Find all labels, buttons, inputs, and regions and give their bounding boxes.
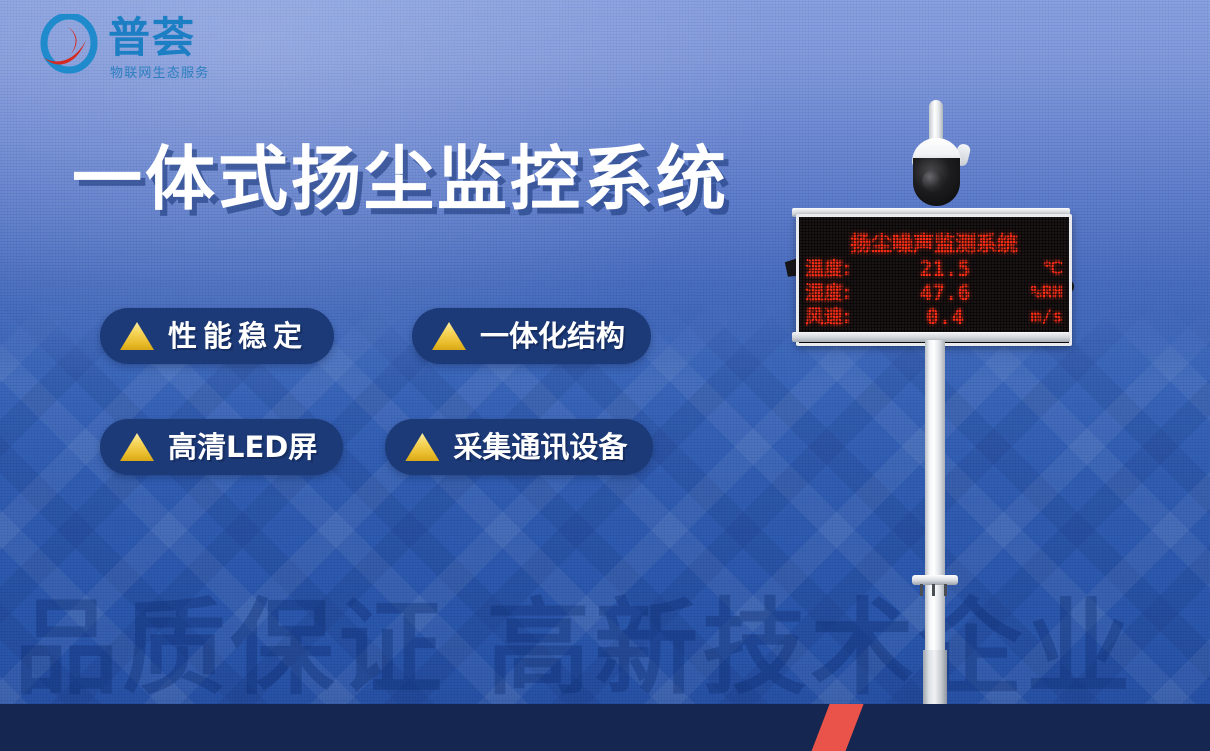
triangle-up-icon — [405, 433, 439, 461]
led-row-unit: ℃ — [1001, 257, 1063, 281]
triangle-up-icon — [120, 322, 154, 350]
brand-logo[interactable]: 普荟 物联网生态服务 — [38, 14, 209, 81]
led-row-value: 47.6 — [889, 281, 1001, 305]
feature-badge-row-1: 性能稳定 一体化结构 — [100, 308, 760, 364]
led-row-label: 湿度 — [805, 282, 843, 304]
feature-badge-row-2: 高清LED屏 采集通讯设备 — [100, 419, 760, 475]
led-row-value: 0.4 — [889, 305, 1001, 329]
triangle-up-icon — [120, 433, 154, 461]
feature-badge-hd-led-screen[interactable]: 高清LED屏 — [100, 419, 343, 475]
brand-text-block: 普荟 物联网生态服务 — [108, 14, 209, 81]
led-row-temperature: 温度: 21.5 ℃ — [799, 257, 1069, 281]
led-board-title: 扬尘噪声监测系统 — [799, 232, 1069, 257]
footer-accent-stripe — [808, 704, 866, 751]
camera-dome-lens — [913, 158, 960, 206]
led-row-unit: m/s — [1001, 305, 1063, 329]
triangle-up-icon — [432, 322, 466, 350]
page-title: 一体式扬尘监控系统 — [72, 144, 729, 214]
feature-badge-list: 性能稳定 一体化结构 高清LED屏 采集通讯设备 — [100, 308, 760, 530]
pu-hui-circle-logo-icon — [38, 14, 100, 76]
feature-badge-label: 高清LED屏 — [168, 433, 317, 462]
feature-badge-label: 采集通讯设备 — [453, 433, 627, 462]
led-row-separator: : — [843, 306, 851, 328]
monitoring-station-device: 扬尘噪声监测系统 温度: 21.5 ℃ 湿度: 47.6 %RH 风速: 0.4… — [770, 86, 1100, 706]
led-display-board: 扬尘噪声监测系统 温度: 21.5 ℃ 湿度: 47.6 %RH 风速: 0.4… — [796, 214, 1072, 346]
flange-bolt — [932, 584, 935, 596]
flange-bolt — [944, 584, 947, 596]
feature-badge-integrated-structure[interactable]: 一体化结构 — [412, 308, 651, 364]
led-row-windspeed: 风速: 0.4 m/s — [799, 305, 1069, 329]
feature-badge-label: 性能稳定 — [168, 322, 308, 351]
led-row-value: 21.5 — [889, 257, 1001, 281]
led-row-label: 温度 — [805, 258, 843, 280]
brand-name: 普荟 — [108, 16, 209, 60]
brand-tagline: 物联网生态服务 — [108, 62, 209, 81]
footer-bar — [0, 704, 1210, 751]
feature-badge-acquisition-comm-device[interactable]: 采集通讯设备 — [385, 419, 653, 475]
feature-badge-label: 一体化结构 — [480, 322, 625, 351]
led-row-unit: %RH — [1001, 281, 1063, 305]
led-row-label: 风速 — [805, 306, 843, 328]
pole-flange-joint — [912, 575, 958, 585]
led-row-humidity: 湿度: 47.6 %RH — [799, 281, 1069, 305]
feature-badge-stable-performance[interactable]: 性能稳定 — [100, 308, 334, 364]
led-row-separator: : — [843, 258, 851, 280]
led-row-separator: : — [843, 282, 851, 304]
flange-bolt — [920, 584, 923, 596]
banner-stage: 品质保证 高新技术企业 普荟 物联网生态服务 一体式扬尘监控系统 性能稳定 — [0, 0, 1210, 751]
